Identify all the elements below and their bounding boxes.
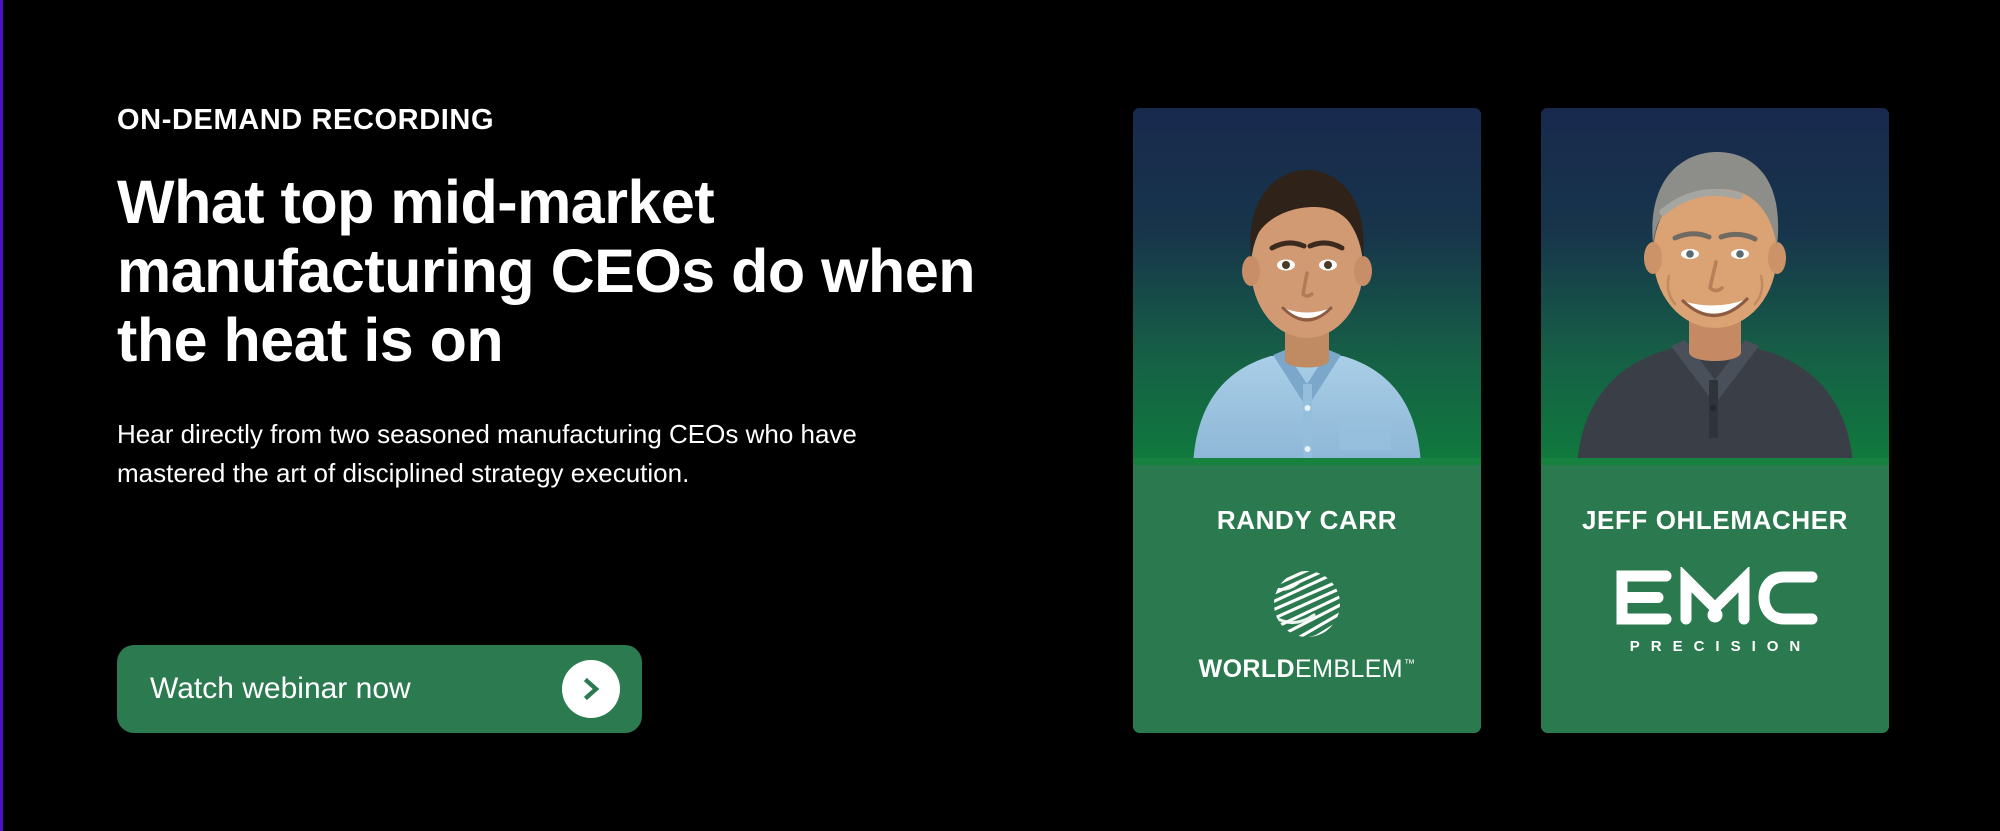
wordmark-bold: WORLD <box>1199 657 1295 682</box>
speaker-name: RANDY CARR <box>1217 507 1397 533</box>
emc-precision-subtitle: PRECISION <box>1619 639 1812 654</box>
photo-divider-strip <box>1541 458 1889 465</box>
wordmark-light: EMBLEM <box>1295 657 1403 682</box>
cta-label: Watch webinar now <box>150 674 411 704</box>
world-emblem-logo: WORLDEMBLEM™ <box>1199 567 1416 682</box>
speaker-card[interactable]: JEFF OHLEMACHER <box>1541 108 1889 733</box>
world-emblem-wordmark: WORLDEMBLEM™ <box>1199 657 1416 682</box>
trademark-symbol: ™ <box>1404 659 1415 670</box>
page-title: What top mid-market manufacturing CEOs d… <box>117 168 977 375</box>
promo-banner: ON-DEMAND RECORDING What top mid-market … <box>0 0 2000 831</box>
watch-webinar-button[interactable]: Watch webinar now <box>117 645 642 733</box>
eyebrow-label: ON-DEMAND RECORDING <box>117 105 1037 137</box>
speaker-card-list: RANDY CARR <box>1133 108 1889 733</box>
hero-subcopy: Hear directly from two seasoned manufact… <box>117 415 907 494</box>
scribble-circle-icon <box>1270 567 1344 646</box>
speaker-card-body: RANDY CARR <box>1133 465 1481 733</box>
speaker-name: JEFF OHLEMACHER <box>1582 507 1848 533</box>
photo-divider-strip <box>1133 458 1481 465</box>
emc-wordmark-icon <box>1608 567 1822 634</box>
portrait-jeff-ohlemacher <box>1541 108 1889 465</box>
emc-precision-logo: PRECISION <box>1608 567 1822 654</box>
portrait-randy-carr <box>1133 108 1481 465</box>
speaker-card[interactable]: RANDY CARR <box>1133 108 1481 733</box>
hero-text-column: ON-DEMAND RECORDING What top mid-market … <box>117 105 1037 494</box>
chevron-right-icon[interactable] <box>562 660 620 718</box>
speaker-card-body: JEFF OHLEMACHER <box>1541 465 1889 733</box>
